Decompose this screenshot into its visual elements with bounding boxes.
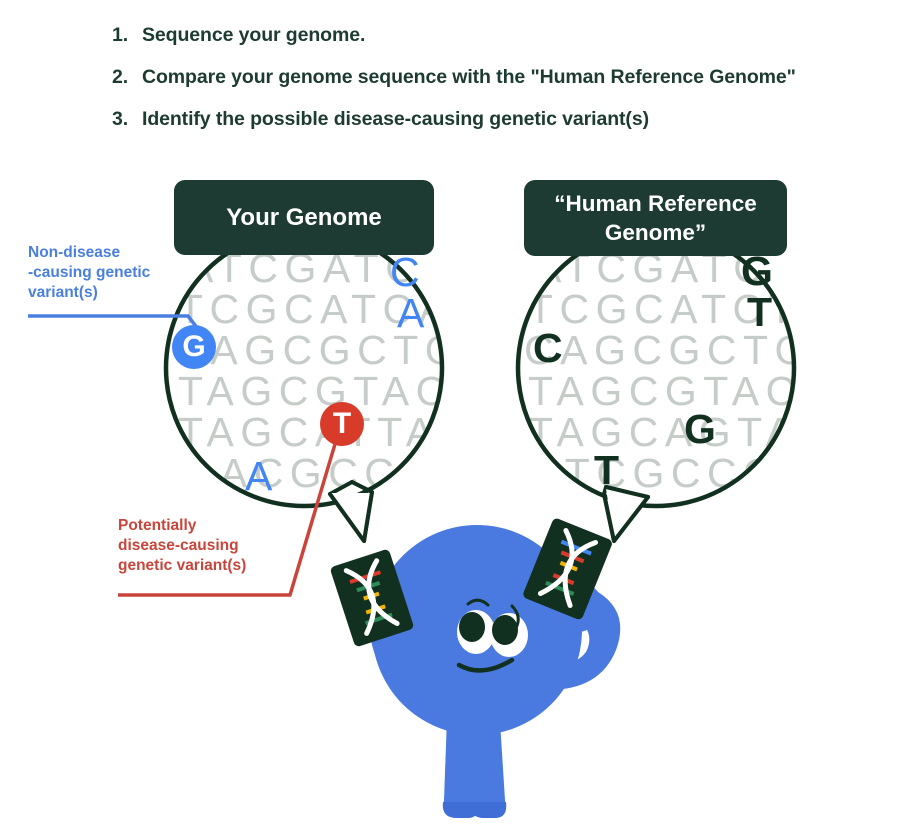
genome-comparison-figure: ATCGATCC TCGCATCAC GAGCGCTG TAGCGTACC TA… [0, 0, 904, 840]
sequence-row: TCGCATCTC [528, 286, 836, 332]
character-pupil-right [492, 615, 518, 645]
badge-your-genome: Your Genome [174, 180, 434, 255]
variant-right-row3: C [533, 328, 563, 369]
figure-svg: ATCGATCC TCGCATCAC GAGCGCTG TAGCGTACC TA… [0, 0, 904, 840]
badge-your-genome-label: Your Genome [226, 204, 382, 232]
annotation-disease: Potentially disease-causing genetic vari… [118, 516, 298, 576]
variant-left-row2: A [397, 293, 424, 334]
variant-left-row6: A [245, 456, 272, 497]
variant-left-row1: C [390, 252, 420, 293]
sequence-row: TAGCAGTAC [528, 409, 836, 455]
variant-right-row2: T [747, 292, 772, 333]
variant-left-row5-letter: T [333, 407, 351, 441]
sequence-row: TCGCATCAC [178, 286, 489, 332]
character-figure [330, 517, 621, 818]
variant-left-row3-circle: G [172, 325, 216, 369]
badge-reference-genome-label: “Human Reference Genome” [554, 189, 757, 247]
variant-right-row6: T [594, 450, 619, 491]
badge-reference-genome: “Human Reference Genome” [524, 180, 787, 256]
annotation-non-disease: Non-disease -causing genetic variant(s) [28, 243, 198, 303]
variant-right-row1: G [741, 251, 773, 292]
character-pupil-left [459, 612, 485, 642]
character-foot-right [470, 802, 506, 818]
variant-left-row5-circle: T [320, 402, 364, 446]
variant-right-row5: G [684, 409, 716, 450]
variant-left-row3-letter: G [182, 330, 205, 364]
